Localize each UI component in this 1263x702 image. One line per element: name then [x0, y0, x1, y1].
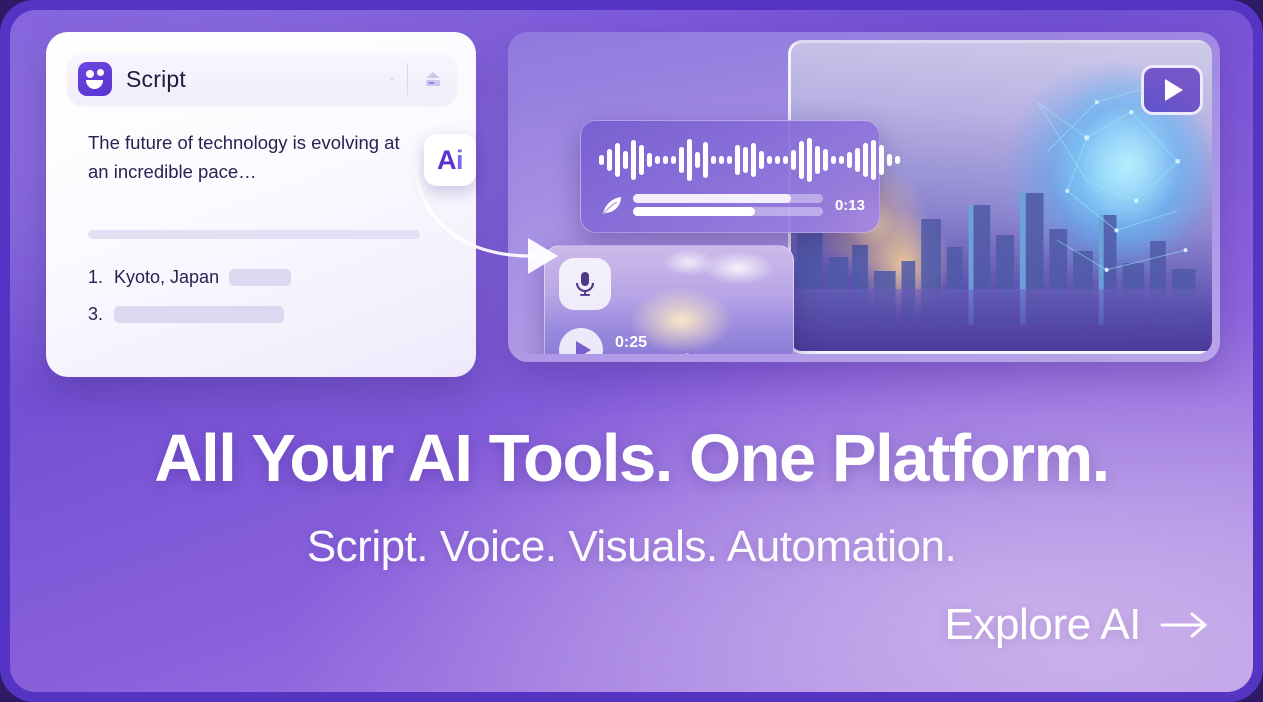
waveform-time: 0:13 — [835, 197, 865, 214]
waveform-bar — [895, 156, 900, 164]
waveform-bar — [719, 156, 724, 164]
waveform-bar — [743, 147, 748, 173]
eject-icon[interactable] — [420, 66, 446, 92]
script-paragraph: The future of technology is evolving at … — [88, 128, 418, 186]
waveform-bar — [711, 156, 716, 164]
list-item-blank — [114, 306, 284, 323]
media-panel: 0:13 — [508, 32, 1220, 362]
waveform-bar — [695, 152, 700, 168]
list-item-number: 1. — [88, 267, 114, 288]
list-item-blank — [229, 269, 291, 286]
waveform-bar — [615, 143, 620, 177]
arrow-right-icon — [1159, 610, 1211, 640]
waveform-bar — [863, 143, 868, 177]
progress-bar-top — [633, 194, 823, 203]
header-divider — [407, 63, 408, 95]
waveform-bar — [783, 156, 788, 164]
waveform-bar — [623, 151, 628, 169]
cta-label: Explore AI — [944, 600, 1141, 650]
waveform-bar — [599, 155, 604, 165]
script-body: The future of technology is evolving at … — [88, 128, 456, 186]
audio-progress-bars[interactable] — [633, 194, 823, 216]
waveform-bar — [815, 146, 820, 174]
voice-progress-group: 0:25 — [615, 334, 746, 354]
eject-glyph — [423, 70, 443, 88]
play-icon — [576, 341, 591, 354]
waveform-bar — [607, 149, 612, 171]
list-item-number: 3. — [88, 304, 114, 325]
page-subheadline: Script. Voice. Visuals. Automation. — [10, 522, 1253, 572]
play-icon — [1165, 79, 1183, 101]
waveform-bar — [639, 145, 644, 175]
waveform-bar — [807, 138, 812, 182]
waveform-footer: 0:13 — [599, 192, 865, 218]
waveform-bar — [671, 156, 676, 164]
leaf-icon — [599, 192, 625, 218]
waveform-bar — [791, 150, 796, 170]
waveform-bar — [751, 143, 756, 177]
waveform-bar — [655, 156, 660, 164]
waveform-bar — [767, 156, 772, 164]
progress-bar-bottom — [633, 207, 823, 216]
waveform-bar — [647, 153, 652, 167]
script-list: 1. Kyoto, Japan 3. — [88, 260, 291, 331]
waveform-bar — [879, 145, 884, 175]
waveform-bar — [887, 154, 892, 166]
script-card-header[interactable]: Script — [68, 54, 456, 104]
waveform-visualizer — [599, 137, 861, 183]
waveform-bar — [631, 140, 636, 180]
media-panel-inner: 0:13 — [516, 40, 1212, 354]
waveform-bar — [687, 139, 692, 181]
page-headline: All Your AI Tools. One Platform. — [10, 420, 1253, 497]
list-item[interactable]: 3. — [88, 297, 291, 331]
waveform-bar — [679, 147, 684, 173]
waveform-bar — [847, 152, 852, 168]
ai-badge-letter-a: A — [437, 145, 456, 176]
script-card-title: Script — [126, 66, 186, 93]
waveform-bar — [703, 142, 708, 178]
voice-play-button[interactable] — [559, 328, 603, 354]
audio-waveform-card[interactable]: 0:13 — [580, 120, 880, 233]
banner-stage: Script The future of technology is evolv… — [10, 10, 1253, 692]
waveform-bar — [759, 151, 764, 169]
waveform-bar — [799, 141, 804, 179]
script-placeholder-rule — [88, 230, 420, 239]
voice-current-time: 0:25 — [615, 334, 746, 352]
waveform-bar — [855, 148, 860, 172]
video-play-button[interactable] — [1141, 65, 1203, 115]
waveform-bar — [839, 156, 844, 164]
script-app-icon — [78, 62, 112, 96]
waveform-bar — [823, 149, 828, 171]
ai-promo-banner: Script The future of technology is evolv… — [0, 0, 1263, 702]
explore-ai-cta[interactable]: Explore AI — [944, 600, 1211, 650]
waveform-bar — [871, 140, 876, 180]
waveform-bar — [735, 145, 740, 175]
waveform-bar — [663, 156, 668, 164]
list-item[interactable]: 1. Kyoto, Japan — [88, 260, 291, 294]
slider-thumb[interactable] — [678, 353, 695, 354]
voice-player-controls: 0:25 1:11 — [559, 328, 781, 354]
waveform-bar — [775, 156, 780, 164]
list-item-label: Kyoto, Japan — [114, 267, 219, 288]
ai-badge-letter-i: i — [456, 145, 463, 176]
ai-badge[interactable]: Ai — [424, 134, 476, 186]
header-dot — [390, 77, 394, 81]
waveform-bar — [831, 156, 836, 164]
waveform-bar — [727, 156, 732, 164]
